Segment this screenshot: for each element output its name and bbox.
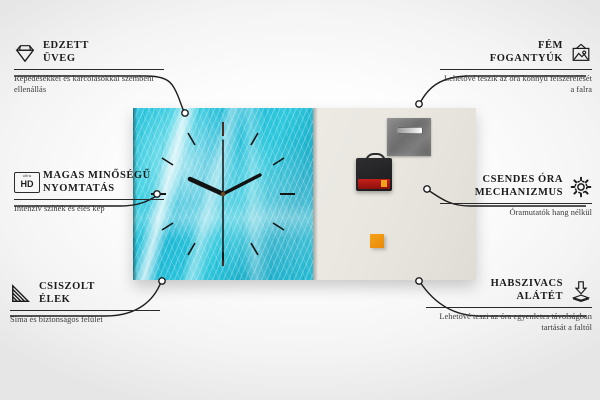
connector-dot-metal-handles: [416, 101, 422, 107]
callout-high-quality-print[interactable]: ultra HD MAGAS MINŐSÉGŰNYOMTATÁS Intenzí…: [14, 170, 164, 215]
callout-title: CSISZOLTÉLEK: [39, 281, 95, 306]
callout-silent-mechanism[interactable]: CSENDES ÓRAMECHANIZMUS Óramutatók hang n…: [440, 174, 592, 219]
callout-polished-edges[interactable]: CSISZOLTÉLEK Sima és biztonságos felület: [10, 281, 160, 326]
badge-large-text: HD: [21, 180, 34, 189]
callout-subtitle: Sima és biztonságos felület: [10, 315, 160, 326]
callout-title: FÉMFOGANTYÚK: [440, 40, 563, 65]
diamond-icon: [14, 42, 36, 64]
connector-dot-silent-mechanism: [424, 186, 430, 192]
callout-rule: [426, 307, 592, 308]
callout-rule: [14, 199, 164, 200]
callout-subtitle: Óramutatók hang nélkül: [440, 208, 592, 219]
gear-icon: [570, 176, 592, 198]
callout-title: CSENDES ÓRAMECHANIZMUS: [440, 174, 563, 199]
connector-dot-foam-pad: [416, 278, 422, 284]
callout-rule: [440, 203, 592, 204]
ultra-hd-badge-icon: ultra HD: [14, 172, 36, 194]
callout-rule: [10, 310, 160, 311]
callout-subtitle: Intenzív színek és éles kép: [14, 204, 164, 215]
callout-title: EDZETTÜVEG: [43, 40, 89, 65]
callout-foam-pad[interactable]: HABSZIVACSALÁTÉT Lehetővé teszi az óra e…: [426, 278, 592, 333]
beveled-edge-icon: [10, 283, 32, 305]
connector-dot-tempered-glass: [182, 110, 188, 116]
callout-tempered-glass[interactable]: EDZETTÜVEG Repedésekkel és karcolásokkal…: [14, 40, 164, 95]
callout-rule: [440, 69, 592, 70]
foam-press-icon: [570, 280, 592, 302]
callout-title: MAGAS MINŐSÉGŰNYOMTATÁS: [43, 170, 151, 195]
callout-rule: [14, 69, 164, 70]
callout-subtitle: Lehetővé teszi az óra egyenletes távolsá…: [426, 312, 592, 333]
callout-metal-handles[interactable]: FÉMFOGANTYÚK Lehetővé teszik az óra könn…: [440, 40, 592, 95]
callout-subtitle: Lehetővé teszik az óra könnyű felszerelé…: [440, 74, 592, 95]
callout-title: HABSZIVACSALÁTÉT: [426, 278, 563, 303]
infographic-canvas: EDZETTÜVEG Repedésekkel és karcolásokkal…: [0, 0, 600, 400]
picture-frame-hanger-icon: [570, 42, 592, 64]
callout-subtitle: Repedésekkel és karcolásokkal szembeni e…: [14, 74, 164, 95]
